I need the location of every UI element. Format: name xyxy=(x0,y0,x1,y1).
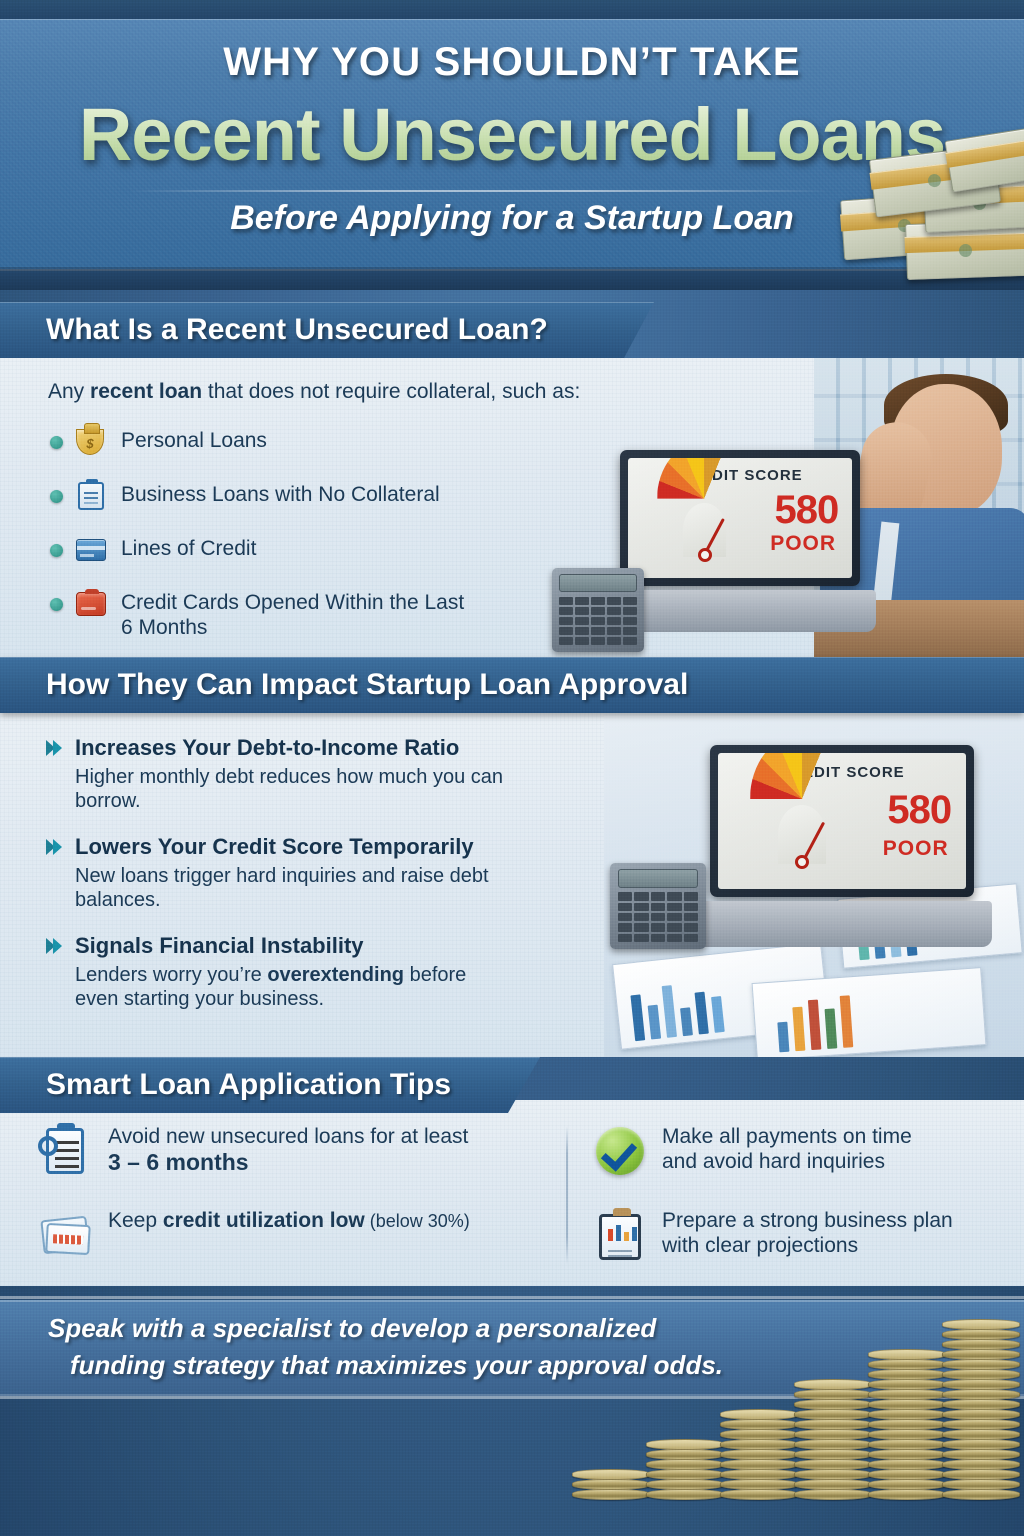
lead-bold: recent loan xyxy=(90,380,202,403)
card-stack-icon xyxy=(38,1208,94,1264)
tip-line-1: Make all payments on time xyxy=(662,1125,912,1148)
coin-stack xyxy=(646,1440,724,1500)
tip-line-2: with clear projections xyxy=(662,1234,858,1257)
tip-bold: credit utilization low xyxy=(163,1209,365,1232)
checklist-icon xyxy=(38,1124,94,1180)
tip-line-2: and avoid hard inquiries xyxy=(662,1150,885,1173)
list-item: Signals Financial Instability Lenders wo… xyxy=(46,933,626,1012)
business-plan-clipboard-icon xyxy=(592,1208,648,1264)
tip-prefix: Keep xyxy=(108,1209,163,1232)
tip-item: Avoid new unsecured loans for at least 3… xyxy=(38,1124,558,1180)
impact-body-bold: overextending xyxy=(267,964,404,986)
list-item: Lines of Credit xyxy=(50,534,570,566)
section-1-list: Personal Loans Business Loans with No Co… xyxy=(50,426,570,658)
bullet-dot xyxy=(50,436,63,449)
coin-stack xyxy=(868,1350,946,1500)
impact-body-prefix: Lenders worry you’re xyxy=(75,964,267,986)
impact-title: Signals Financial Instability xyxy=(75,933,364,959)
tip-item: Prepare a strong business plan with clea… xyxy=(592,1208,1022,1264)
list-item-label: Credit Cards Opened Within the Last 6 Mo… xyxy=(121,588,481,641)
green-check-icon xyxy=(592,1124,648,1180)
tips-grid: Avoid new unsecured loans for at least 3… xyxy=(0,1100,1024,1286)
section-1-banner: What Is a Recent Unsecured Loan? xyxy=(0,302,654,358)
tip-line-2: 3 – 6 months xyxy=(108,1149,249,1175)
laptop-credit-score-1: CREDIT SCORE 580 POOR xyxy=(604,442,876,632)
list-item: Business Loans with No Collateral xyxy=(50,480,570,512)
infographic-page: WHY YOU SHOULDN’T TAKE Recent Unsecured … xyxy=(0,0,1024,1536)
section-1-title: What Is a Recent Unsecured Loan? xyxy=(46,313,548,347)
section-2-panel: CREDIT SCORE 580 POOR xyxy=(0,713,1024,1057)
section-1-panel: CREDIT SCORE 580 POOR xyxy=(0,358,1024,658)
impact-body: New loans trigger hard inquiries and rai… xyxy=(75,864,505,913)
impact-title: Lowers Your Credit Score Temporarily xyxy=(75,834,474,860)
credit-score-rating-2: POOR xyxy=(883,837,949,861)
list-item-label: Lines of Credit xyxy=(121,534,256,562)
title-line-top: WHY YOU SHOULDN’T TAKE xyxy=(0,40,1024,85)
header-top-strip xyxy=(0,0,1024,19)
laptop-credit-score-2: CREDIT SCORE 580 POOR xyxy=(692,737,992,947)
bullet-dot xyxy=(50,490,63,503)
list-item: Increases Your Debt-to-Income Ratio High… xyxy=(46,735,626,814)
credit-score-gauge-2 xyxy=(750,799,854,864)
chevron-right-icon xyxy=(46,837,63,857)
cash-stack-icon xyxy=(828,112,1018,290)
title-divider xyxy=(130,190,830,192)
tip-line-1: Avoid new unsecured loans for at least xyxy=(108,1125,468,1148)
coin-stack xyxy=(720,1410,798,1500)
section-2-list: Increases Your Debt-to-Income Ratio High… xyxy=(46,735,626,1031)
chevron-right-icon xyxy=(46,936,63,956)
footer-cta: Speak with a specialist to develop a per… xyxy=(0,1286,1024,1536)
money-bag-icon xyxy=(73,426,109,458)
list-item-label: Personal Loans xyxy=(121,426,267,454)
credit-card-icon xyxy=(73,534,109,566)
tip-line-1: Prepare a strong business plan xyxy=(662,1209,953,1232)
impact-body: Higher monthly debt reduces how much you… xyxy=(75,765,545,814)
tips-column-divider xyxy=(566,1126,568,1264)
header: WHY YOU SHOULDN’T TAKE Recent Unsecured … xyxy=(0,0,1024,290)
coin-stack xyxy=(942,1320,1020,1500)
coin-stack xyxy=(794,1380,872,1500)
list-item-label: Business Loans with No Collateral xyxy=(121,480,440,508)
tip-suffix: (below 30%) xyxy=(365,1211,470,1231)
section-2-title: How They Can Impact Startup Loan Approva… xyxy=(46,668,688,702)
list-item: Lowers Your Credit Score Temporarily New… xyxy=(46,834,626,913)
credit-score-value-2: 580 xyxy=(887,791,951,829)
bullet-dot xyxy=(50,598,63,611)
credit-score-rating-1: POOR xyxy=(770,532,836,556)
tip-item: Make all payments on time and avoid hard… xyxy=(592,1124,1012,1180)
tip-item: Keep credit utilization low (below 30%) xyxy=(38,1208,558,1264)
impact-body: Lenders worry you’re overextending befor… xyxy=(75,963,495,1012)
list-item: Personal Loans xyxy=(50,426,570,458)
coin-stack xyxy=(572,1470,650,1500)
red-card-icon xyxy=(73,588,109,620)
lead-suffix: that does not require collateral, such a… xyxy=(202,380,580,403)
section-1-lead: Any recent loan that does not require co… xyxy=(48,380,580,404)
list-item: Credit Cards Opened Within the Last 6 Mo… xyxy=(50,588,570,641)
impact-title: Increases Your Debt-to-Income Ratio xyxy=(75,735,459,761)
clipboard-icon xyxy=(73,480,109,512)
lead-prefix: Any xyxy=(48,380,90,403)
section-3-panel: Avoid new unsecured loans for at least 3… xyxy=(0,1100,1024,1286)
section-2-banner: How They Can Impact Startup Loan Approva… xyxy=(0,657,1024,713)
chevron-right-icon xyxy=(46,738,63,758)
section-3-banner: Smart Loan Application Tips xyxy=(0,1057,540,1113)
bullet-dot xyxy=(50,544,63,557)
section-3-title: Smart Loan Application Tips xyxy=(46,1068,451,1102)
credit-score-gauge-1 xyxy=(657,499,751,557)
coin-stacks-icon xyxy=(554,1286,1024,1536)
credit-score-value-1: 580 xyxy=(775,491,839,529)
